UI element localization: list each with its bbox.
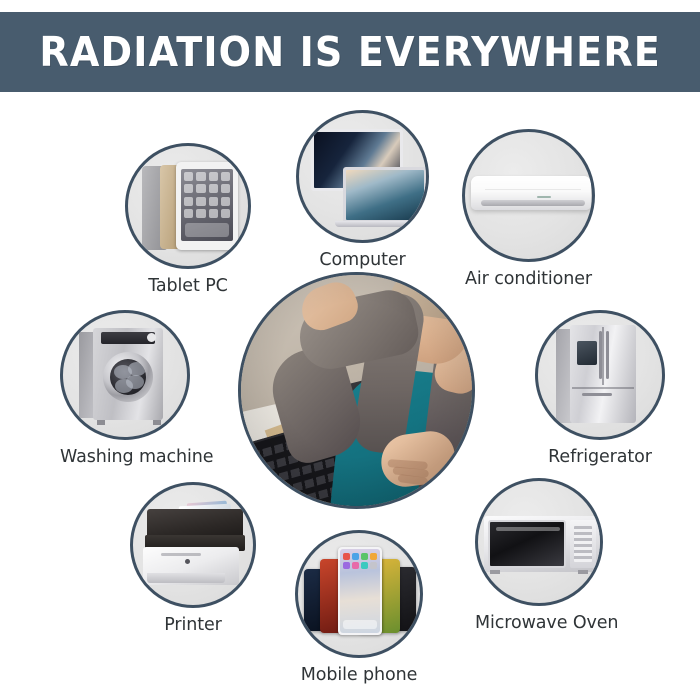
printer-circle[interactable] [130,482,256,608]
center-illustration [238,272,475,509]
node-printer[interactable]: Printer [130,482,256,635]
node-label-mobile-phone: Mobile phone [295,665,423,685]
refrigerator-circle[interactable] [535,310,665,440]
computer-circle[interactable] [296,110,429,243]
node-computer[interactable]: Computer [296,110,429,270]
node-refrigerator[interactable]: Refrigerator [535,310,665,467]
node-label-air-conditioner: Air conditioner [462,269,595,289]
air-conditioner-icon [465,146,592,246]
node-air-conditioner[interactable]: Air conditioner [462,129,595,289]
node-washing-machine[interactable]: Washing machine [60,310,213,467]
washing-machine-circle[interactable] [60,310,190,440]
mobile-phone-circle[interactable] [295,530,423,658]
node-label-washing-machine: Washing machine [60,447,213,467]
node-microwave-oven[interactable]: Microwave Oven [475,478,618,633]
microwave-oven-circle[interactable] [475,478,603,606]
node-mobile-phone[interactable]: Mobile phone [295,530,423,685]
desktop-computer-icon [299,121,426,233]
refrigerator-icon [544,319,656,431]
air-conditioner-circle[interactable] [462,129,595,262]
node-label-microwave-oven: Microwave Oven [475,613,618,633]
tablet-pc-circle[interactable] [125,143,251,269]
header-banner: RADIATION IS EVERYWHERE [0,12,700,92]
node-label-printer: Printer [130,615,256,635]
washing-machine-icon [69,320,181,430]
node-tablet-pc[interactable]: Tablet PC [125,143,251,296]
smartphone-icon [298,533,423,643]
node-label-computer: Computer [296,250,429,270]
center-circle [238,272,475,509]
node-label-refrigerator: Refrigerator [535,447,665,467]
printer-icon [133,495,253,595]
stressed-woman-at-computer-icon [241,275,472,506]
microwave-oven-icon [478,492,600,592]
node-label-tablet-pc: Tablet PC [125,276,251,296]
tablet-icon [128,150,248,262]
page-title: RADIATION IS EVERYWHERE [39,28,661,76]
